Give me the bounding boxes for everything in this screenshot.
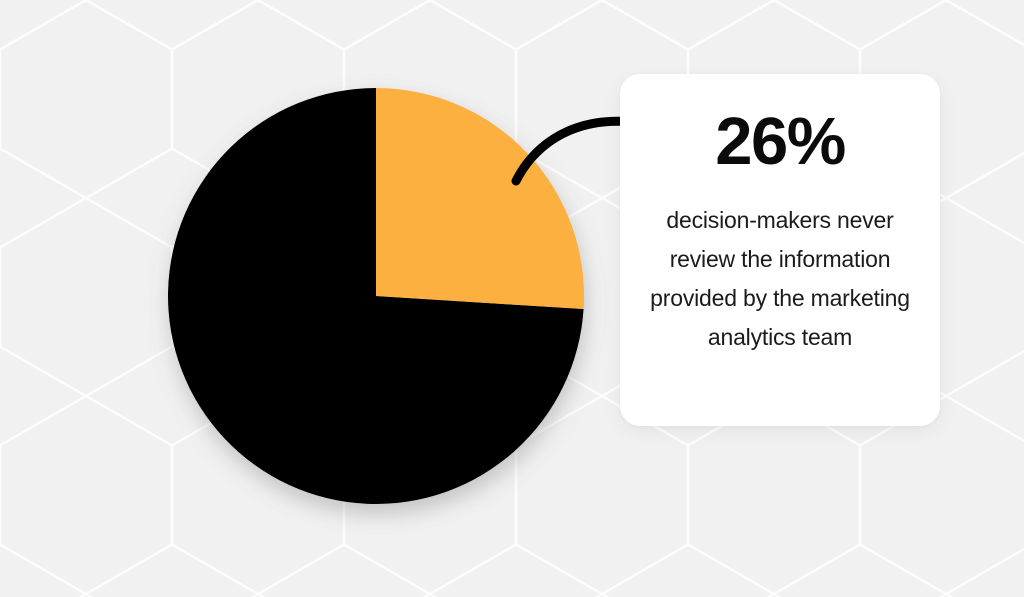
stat-description-text: decision-makers never review the informa…	[635, 201, 925, 357]
pie-chart	[148, 68, 618, 538]
infographic-canvas: 26% decision-makers never review the inf…	[0, 0, 1024, 597]
pie-chart-svg	[148, 68, 618, 538]
stat-callout-card: 26% decision-makers never review the inf…	[620, 74, 940, 426]
pie-slice-highlight	[376, 88, 584, 309]
stat-percentage-value: 26%	[715, 108, 845, 175]
